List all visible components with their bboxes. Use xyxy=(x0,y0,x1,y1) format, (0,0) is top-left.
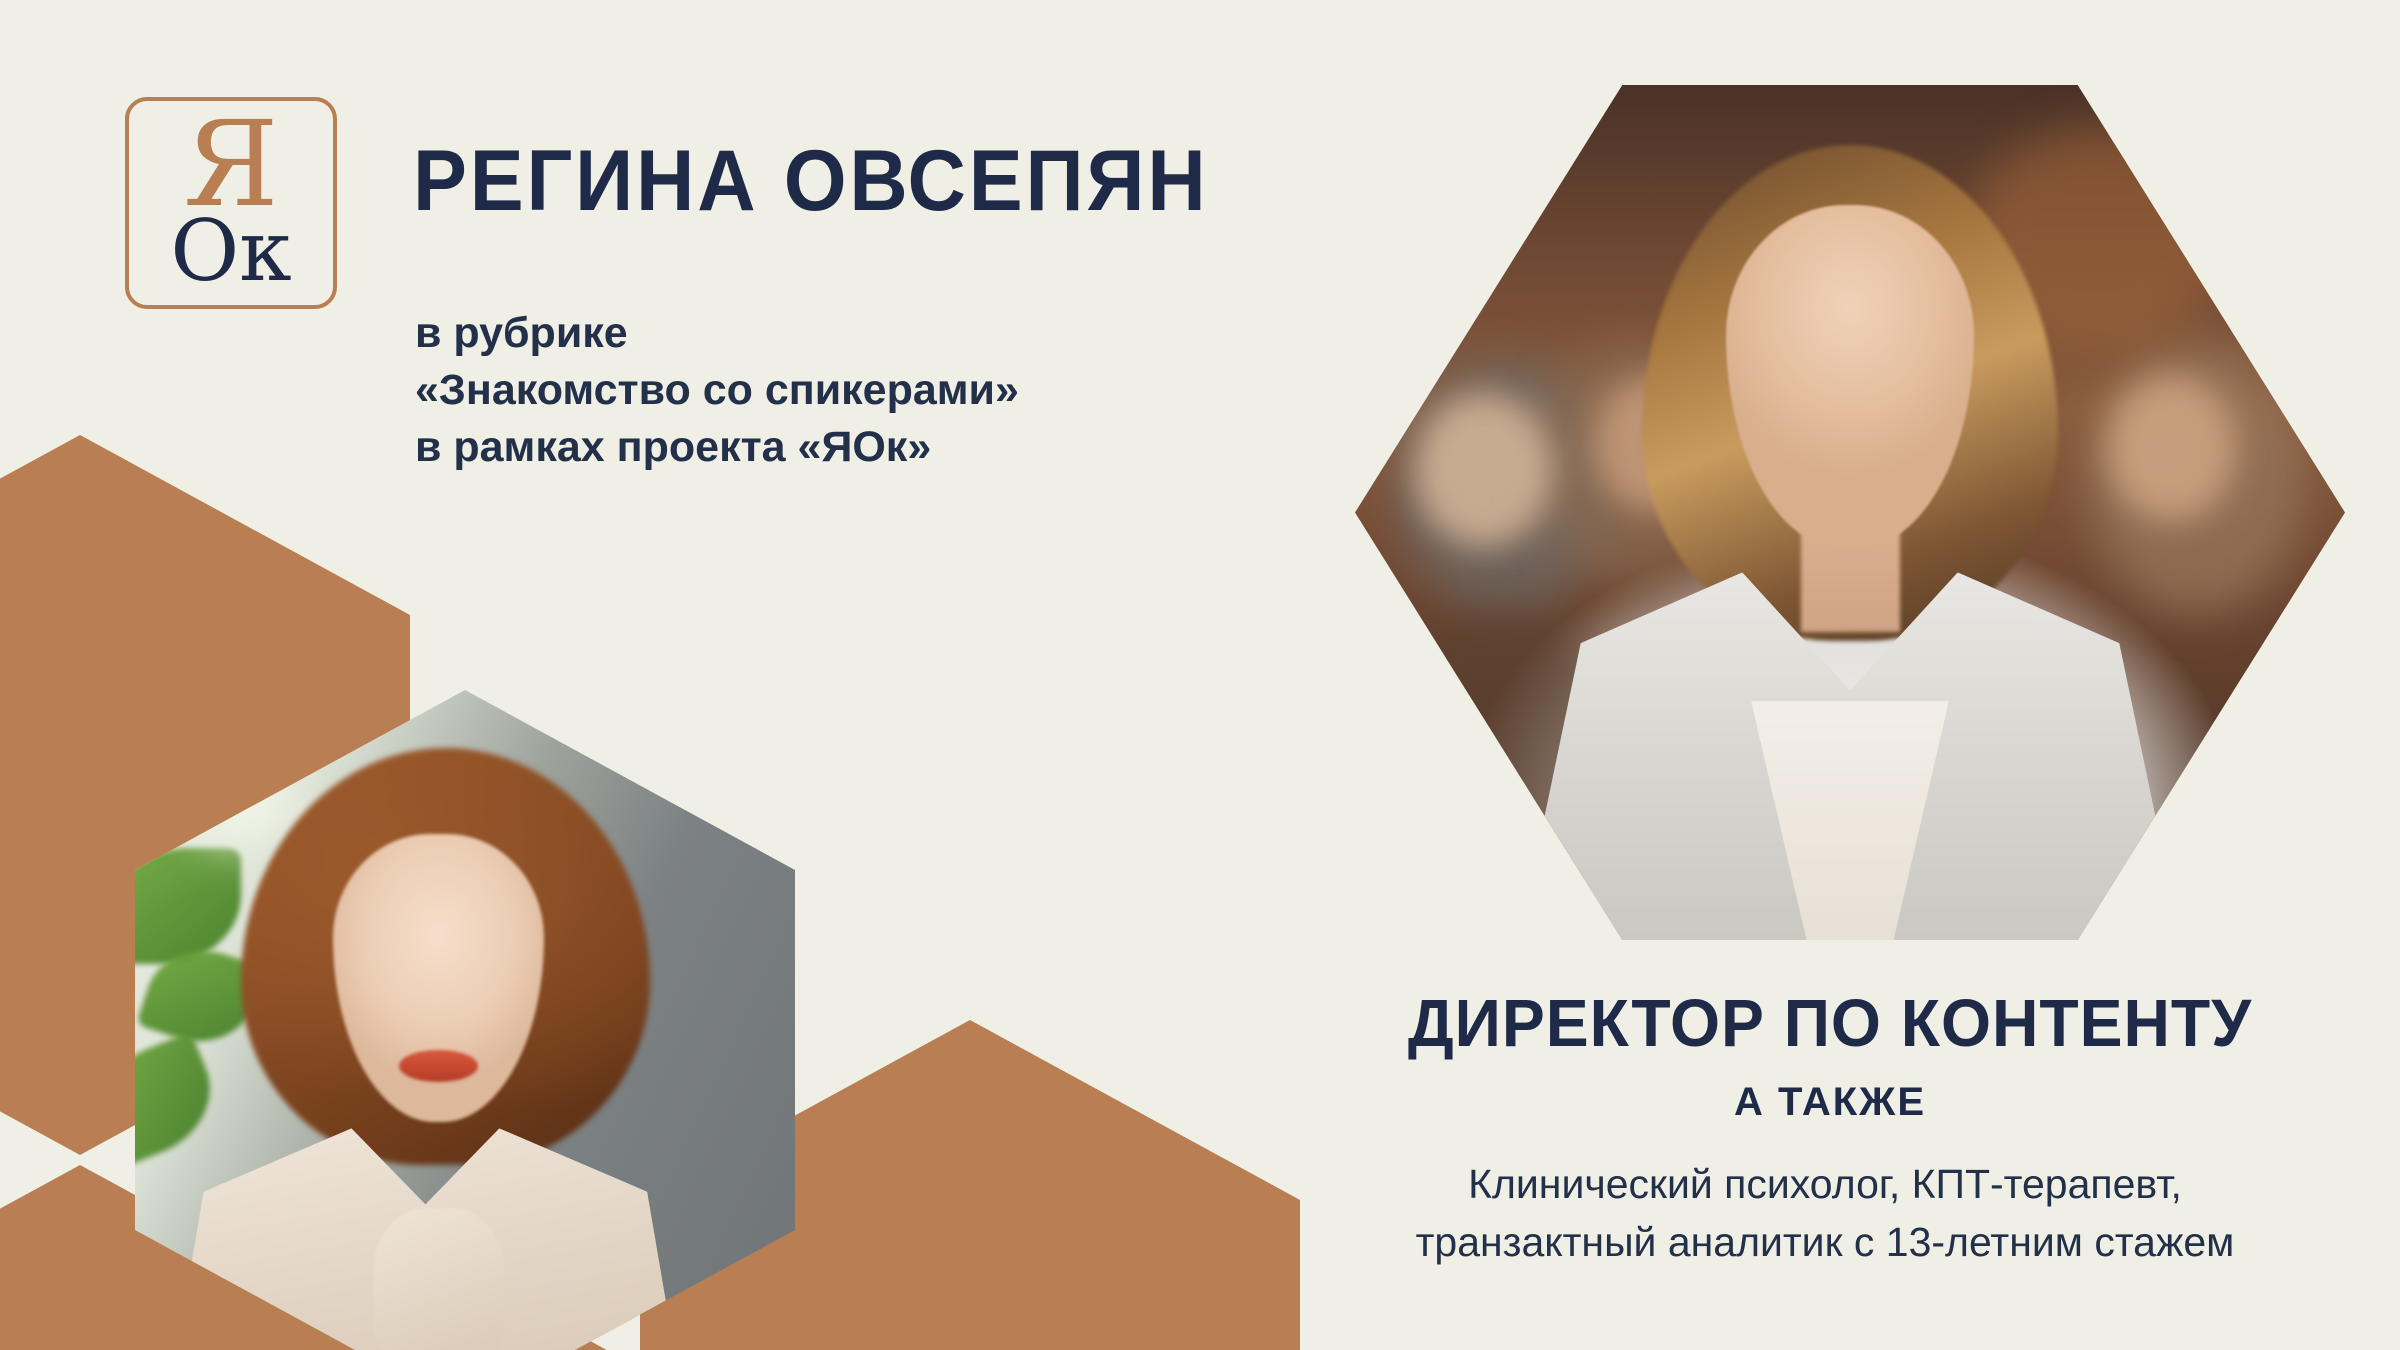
brand-logo: Я Ок xyxy=(125,97,337,309)
role-description-line-2: транзактный аналитик с 13-летним стажем xyxy=(1245,1213,2400,1271)
main-portrait-hexagon xyxy=(1355,85,2345,940)
main-portrait-image xyxy=(1355,85,2345,940)
role-title: ДИРЕКТОР ПО КОНТЕНТУ xyxy=(1283,985,2377,1062)
role-description-line-1: Клинический психолог, КПТ-терапевт, xyxy=(1245,1155,2400,1213)
rubric-line-1: в рубрике xyxy=(415,305,1019,362)
rubric-line-3: в рамках проекта «ЯОк» xyxy=(415,419,1019,476)
rubric-line-2: «Знакомство со спикерами» xyxy=(415,362,1019,419)
logo-letters-ok: Ок xyxy=(129,209,333,293)
role-also-label: А ТАКЖЕ xyxy=(1260,1080,2400,1125)
role-description: Клинический психолог, КПТ-терапевт, тран… xyxy=(1245,1155,2400,1271)
speaker-announcement-poster: Я Ок РЕГИНА ОВСЕПЯН в рубрике «Знакомств… xyxy=(0,0,2400,1350)
rubric-block: в рубрике «Знакомство со спикерами» в ра… xyxy=(415,305,1019,475)
speaker-name: РЕГИНА ОВСЕПЯН xyxy=(413,132,1209,231)
